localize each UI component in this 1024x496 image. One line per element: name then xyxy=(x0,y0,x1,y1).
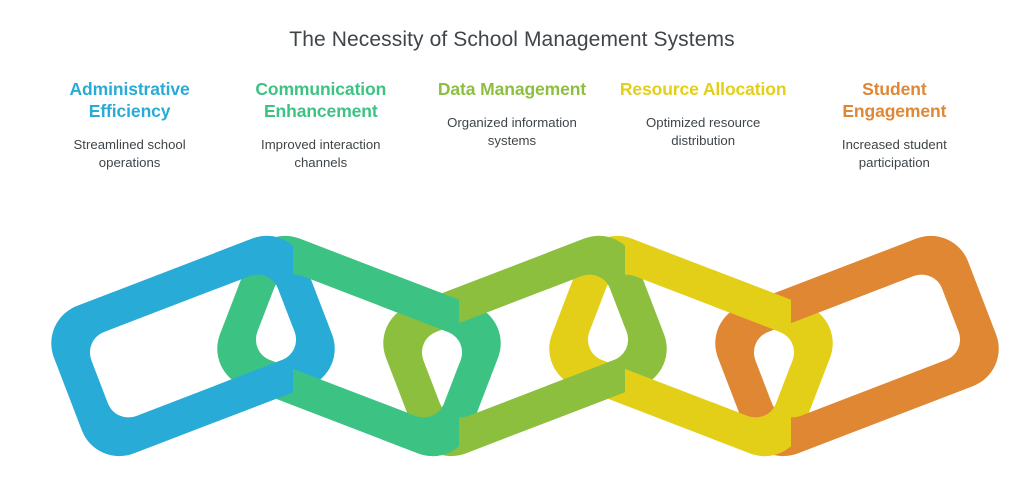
chain-links-svg xyxy=(0,218,1024,483)
category-columns: Administrative Efficiency Streamlined sc… xyxy=(34,78,990,172)
category-heading: Data Management xyxy=(428,78,595,100)
category-column-student-engagement: Student Engagement Increased student par… xyxy=(799,78,990,172)
category-heading: Resource Allocation xyxy=(620,78,787,100)
category-column-resource-allocation: Resource Allocation Optimized resource d… xyxy=(608,78,799,150)
category-heading: Administrative Efficiency xyxy=(46,78,213,122)
category-column-data-management: Data Management Organized information sy… xyxy=(416,78,607,150)
chain-graphic xyxy=(0,218,1024,483)
category-column-communication-enhancement: Communication Enhancement Improved inter… xyxy=(225,78,416,172)
category-description: Improved interaction channels xyxy=(237,136,404,172)
category-description: Optimized resource distribution xyxy=(620,114,787,150)
infographic-canvas: The Necessity of School Management Syste… xyxy=(0,0,1024,496)
category-heading: Communication Enhancement xyxy=(237,78,404,122)
category-description: Streamlined school operations xyxy=(46,136,213,172)
category-column-administrative-efficiency: Administrative Efficiency Streamlined sc… xyxy=(34,78,225,172)
category-heading: Student Engagement xyxy=(811,78,978,122)
category-description: Organized information systems xyxy=(428,114,595,150)
category-description: Increased student participation xyxy=(811,136,978,172)
page-title: The Necessity of School Management Syste… xyxy=(0,28,1024,52)
